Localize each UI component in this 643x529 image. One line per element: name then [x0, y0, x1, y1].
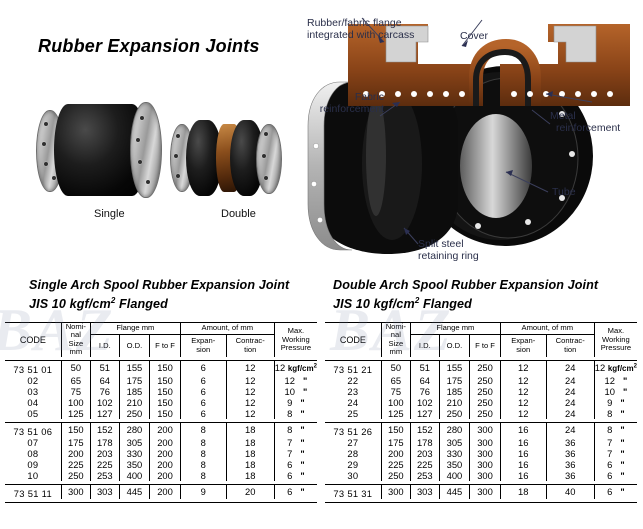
cell-contraction: 36: [546, 470, 594, 481]
cell-outer-diameter: 350: [439, 459, 470, 470]
cell-face-to-face: 300: [470, 470, 501, 481]
cell-max-working-pressure: 8": [594, 408, 637, 419]
cell-face-to-face: 300: [470, 459, 501, 470]
cell-code: 73 51 11: [5, 484, 61, 499]
cell-contraction: 40: [546, 484, 594, 499]
cell-expansion: 12: [500, 386, 546, 397]
cell-outer-diameter: 185: [439, 386, 470, 397]
cell-inner-diameter: 303: [90, 484, 119, 499]
callout-line-1: Split steel: [418, 238, 464, 250]
cell-nominal-size: 225: [61, 459, 90, 470]
table-row[interactable]: 2717517830530016367": [325, 437, 637, 448]
cell-inner-diameter: 225: [90, 459, 119, 470]
cell-max-working-pressure: 10": [274, 386, 317, 397]
cell-code: 03: [5, 386, 61, 397]
header-flange-2: F to F: [150, 335, 181, 357]
cell-max-working-pressure: 8": [274, 422, 317, 437]
cell-code: 73 51 01: [5, 360, 61, 375]
bolt-hole-icon: [140, 116, 144, 120]
cell-face-to-face: 200: [150, 470, 181, 481]
cell-inner-diameter: 203: [90, 448, 119, 459]
cell-face-to-face: 200: [150, 484, 181, 499]
cell-contraction: 36: [546, 437, 594, 448]
cell-face-to-face: 250: [470, 408, 501, 419]
table-row[interactable]: 02656417515061212": [5, 375, 317, 386]
table-bottom-rule: [325, 499, 637, 503]
cell-outer-diameter: 350: [119, 459, 150, 470]
cell-code: 30: [325, 470, 381, 481]
cell-face-to-face: 300: [470, 448, 501, 459]
cell-nominal-size: 50: [381, 360, 410, 375]
callout-line-2: retaining ring: [418, 250, 479, 262]
cell-code: 23: [325, 386, 381, 397]
cell-outer-diameter: 175: [119, 375, 150, 386]
callout-line-1: Metal: [550, 110, 576, 122]
cell-expansion: 16: [500, 437, 546, 448]
cell-code: 27: [325, 437, 381, 448]
cell-expansion: 6: [180, 386, 226, 397]
header-max-working-pressure: Max.WorkingPressure: [274, 323, 317, 357]
cell-expansion: 12: [500, 375, 546, 386]
cell-code: 28: [325, 448, 381, 459]
cell-max-working-pressure: 8": [274, 408, 317, 419]
cell-contraction: 36: [546, 459, 594, 470]
double-arch-table: CODENomi-nalSizemmFlange mmAmount, of mm…: [325, 322, 637, 503]
cell-nominal-size: 125: [381, 408, 410, 419]
cell-nominal-size: 200: [381, 448, 410, 459]
cell-code: 22: [325, 375, 381, 386]
cell-face-to-face: 150: [150, 386, 181, 397]
table-row[interactable]: 73 51 3130030344530018406": [325, 484, 637, 499]
double-title-line2-post: Flanged: [419, 297, 472, 311]
cell-max-working-pressure: 6": [594, 459, 637, 470]
cell-expansion: 8: [180, 422, 226, 437]
cell-face-to-face: 200: [150, 448, 181, 459]
callout-line-1: Cover: [460, 30, 488, 42]
cell-nominal-size: 65: [381, 375, 410, 386]
cell-expansion: 18: [500, 484, 546, 499]
bolt-hole-icon: [44, 162, 48, 166]
cell-max-working-pressure: 7": [274, 437, 317, 448]
cell-outer-diameter: 400: [439, 470, 470, 481]
cell-contraction: 20: [226, 484, 274, 499]
cell-outer-diameter: 210: [439, 397, 470, 408]
table-row[interactable]: 73 51 215051155250122412 kgf/cm2: [325, 360, 637, 375]
cell-outer-diameter: 210: [119, 397, 150, 408]
double-arch-photo: [170, 116, 282, 200]
cell-nominal-size: 300: [381, 484, 410, 499]
single-photo-caption: Single: [94, 208, 125, 220]
header-amount-1: Contrac-tion: [226, 335, 274, 357]
cell-expansion: 8: [180, 459, 226, 470]
table-bottom-rule: [5, 499, 317, 503]
header-amount-group: Amount, of mm: [500, 323, 594, 335]
cell-max-working-pressure: 12 kgf/cm2: [274, 360, 317, 375]
cell-outer-diameter: 280: [119, 422, 150, 437]
callout-line-1: Tube: [552, 186, 576, 198]
cell-face-to-face: 200: [150, 459, 181, 470]
cell-inner-diameter: 203: [410, 448, 439, 459]
cell-max-working-pressure: 6": [274, 470, 317, 481]
table-row[interactable]: 73 51 2615015228030016248": [325, 422, 637, 437]
cell-nominal-size: 125: [61, 408, 90, 419]
single-title-line2-pre: JIS 10 kgf/cm: [29, 297, 111, 311]
cell-max-working-pressure: 12": [594, 375, 637, 386]
cell-face-to-face: 250: [470, 360, 501, 375]
double-photo-caption: Double: [221, 208, 256, 220]
cell-code: 24: [325, 397, 381, 408]
table-row[interactable]: 3025025340030016366": [325, 470, 637, 481]
cell-inner-diameter: 152: [90, 422, 119, 437]
cell-inner-diameter: 127: [90, 408, 119, 419]
bolt-hole-icon: [264, 176, 268, 180]
cell-nominal-size: 100: [61, 397, 90, 408]
double-title-line1: Double Arch Spool Rubber Expansion Joint: [333, 278, 598, 292]
header-flange-0: I.D.: [410, 335, 439, 357]
header-flange-group: Flange mm: [410, 323, 500, 335]
header-flange-1: O.D.: [439, 335, 470, 357]
callout-line-1: Rubber/fabric flange: [307, 17, 402, 29]
page-title: Rubber Expansion Joints: [38, 36, 260, 57]
cell-expansion: 8: [180, 437, 226, 448]
cell-nominal-size: 100: [381, 397, 410, 408]
table-row[interactable]: 226564175250122412": [325, 375, 637, 386]
header-code: CODE: [5, 323, 61, 357]
cell-outer-diameter: 175: [439, 375, 470, 386]
cell-inner-diameter: 127: [410, 408, 439, 419]
cell-expansion: 12: [500, 397, 546, 408]
callout-line-2: reinforcement: [320, 103, 384, 115]
cell-max-working-pressure: 10": [594, 386, 637, 397]
cell-code: 29: [325, 459, 381, 470]
cell-outer-diameter: 330: [119, 448, 150, 459]
table-row[interactable]: 071751783052008187": [5, 437, 317, 448]
cell-contraction: 24: [546, 422, 594, 437]
cell-inner-diameter: 178: [90, 437, 119, 448]
cell-max-working-pressure: 9": [274, 397, 317, 408]
single-arch-photo: [34, 98, 162, 198]
cell-max-working-pressure: 6": [274, 459, 317, 470]
table-row[interactable]: 2512512725025012248": [325, 408, 637, 419]
callout-line-1: Fabric: [355, 91, 384, 103]
cell-inner-diameter: 102: [90, 397, 119, 408]
cell-nominal-size: 150: [381, 422, 410, 437]
cell-nominal-size: 175: [381, 437, 410, 448]
header-amount-0: Expan-sion: [500, 335, 546, 357]
header-code: CODE: [325, 323, 381, 357]
cell-max-working-pressure: 7": [274, 448, 317, 459]
cell-contraction: 24: [546, 386, 594, 397]
cell-code: 02: [5, 375, 61, 386]
header-flange-2: F to F: [470, 335, 501, 357]
cell-code: 73 51 26: [325, 422, 381, 437]
cell-expansion: 6: [180, 360, 226, 375]
table-row[interactable]: 051251272501506128": [5, 408, 317, 419]
callout-line-2: reinforcement: [550, 122, 620, 134]
header-flange-group: Flange mm: [90, 323, 180, 335]
single-title-line1: Single Arch Spool Rubber Expansion Joint: [29, 278, 289, 292]
cell-face-to-face: 250: [470, 375, 501, 386]
cell-max-working-pressure: 6": [594, 470, 637, 481]
table-row[interactable]: 237576185250122410": [325, 386, 637, 397]
cell-face-to-face: 250: [470, 397, 501, 408]
cell-contraction: 18: [226, 448, 274, 459]
cell-nominal-size: 250: [381, 470, 410, 481]
cell-code: 04: [5, 397, 61, 408]
cell-expansion: 16: [500, 448, 546, 459]
cell-expansion: 6: [180, 408, 226, 419]
single-arch-table: CODENomi-nalSizemmFlange mmAmount, of mm…: [5, 322, 317, 503]
cutaway-illustration: [300, 6, 643, 268]
double-title-line2-pre: JIS 10 kgf/cm: [333, 297, 415, 311]
cell-nominal-size: 150: [61, 422, 90, 437]
cell-nominal-size: 300: [61, 484, 90, 499]
cell-code: 08: [5, 448, 61, 459]
cell-code: 05: [5, 408, 61, 419]
bolt-hole-icon: [42, 142, 46, 146]
cell-outer-diameter: 155: [119, 360, 150, 375]
cell-inner-diameter: 51: [410, 360, 439, 375]
catalog-page: BAZ BAZ Rubber Expansion Joints Single D…: [0, 0, 643, 529]
cell-max-working-pressure: 7": [594, 448, 637, 459]
table-row[interactable]: 73 51 061501522802008188": [5, 422, 317, 437]
cell-inner-diameter: 64: [410, 375, 439, 386]
cell-outer-diameter: 185: [119, 386, 150, 397]
cell-code: 10: [5, 470, 61, 481]
table-row[interactable]: 102502534002008186": [5, 470, 317, 481]
cell-face-to-face: 250: [470, 386, 501, 397]
single-table-title: Single Arch Spool Rubber Expansion Joint…: [29, 277, 289, 312]
bolt-hole-icon: [264, 132, 268, 136]
cell-nominal-size: 250: [61, 470, 90, 481]
cell-face-to-face: 150: [150, 375, 181, 386]
cell-face-to-face: 200: [150, 437, 181, 448]
cell-code: 73 51 31: [325, 484, 381, 499]
cell-expansion: 16: [500, 459, 546, 470]
cell-nominal-size: 75: [381, 386, 410, 397]
cell-nominal-size: 175: [61, 437, 90, 448]
cell-face-to-face: 150: [150, 360, 181, 375]
cutaway-diagram: Rubber/fabric flange integrated with car…: [300, 6, 643, 268]
cell-contraction: 24: [546, 397, 594, 408]
cell-nominal-size: 225: [381, 459, 410, 470]
table-row[interactable]: 03757618515061210": [5, 386, 317, 397]
bolt-hole-icon: [176, 134, 180, 138]
cell-contraction: 12: [226, 408, 274, 419]
cell-nominal-size: 75: [61, 386, 90, 397]
cell-contraction: 24: [546, 408, 594, 419]
table-row[interactable]: 2922522535030016366": [325, 459, 637, 470]
table-row[interactable]: 2410010221025012249": [325, 397, 637, 408]
bolt-hole-icon: [176, 174, 180, 178]
cell-face-to-face: 200: [150, 422, 181, 437]
header-amount-0: Expan-sion: [180, 335, 226, 357]
table-row[interactable]: 092252253502008186": [5, 459, 317, 470]
double-table-title: Double Arch Spool Rubber Expansion Joint…: [333, 277, 598, 312]
cell-expansion: 6: [180, 375, 226, 386]
cell-code: 07: [5, 437, 61, 448]
cell-contraction: 18: [226, 437, 274, 448]
cell-expansion: 16: [500, 470, 546, 481]
cell-outer-diameter: 305: [119, 437, 150, 448]
bolt-hole-icon: [44, 122, 48, 126]
cell-max-working-pressure: 12": [274, 375, 317, 386]
cell-code: 09: [5, 459, 61, 470]
cell-outer-diameter: 250: [119, 408, 150, 419]
cell-expansion: 8: [180, 470, 226, 481]
cell-nominal-size: 50: [61, 360, 90, 375]
header-nominal-size: Nomi-nalSizemm: [381, 323, 410, 357]
cell-face-to-face: 300: [470, 437, 501, 448]
cell-expansion: 12: [500, 360, 546, 375]
cell-inner-diameter: 152: [410, 422, 439, 437]
cell-outer-diameter: 280: [439, 422, 470, 437]
bolt-hole-icon: [52, 176, 56, 180]
table-row[interactable]: 082002033302008187": [5, 448, 317, 459]
cell-inner-diameter: 253: [410, 470, 439, 481]
cell-outer-diameter: 445: [439, 484, 470, 499]
cell-contraction: 18: [226, 459, 274, 470]
table-row[interactable]: 73 51 01505115515061212 kgf/cm2: [5, 360, 317, 375]
cell-nominal-size: 65: [61, 375, 90, 386]
cell-code: 73 51 06: [5, 422, 61, 437]
bolt-hole-icon: [136, 138, 140, 142]
cell-contraction: 12: [226, 397, 274, 408]
cell-outer-diameter: 330: [439, 448, 470, 459]
bolt-hole-icon: [174, 154, 178, 158]
cell-contraction: 18: [226, 470, 274, 481]
cell-face-to-face: 300: [470, 422, 501, 437]
cell-inner-diameter: 76: [90, 386, 119, 397]
callout-fabric-reinforcement: Fabric reinforcement: [318, 91, 384, 115]
bolt-hole-icon: [262, 154, 266, 158]
cell-face-to-face: 300: [470, 484, 501, 499]
cell-contraction: 12: [226, 386, 274, 397]
cell-outer-diameter: 305: [439, 437, 470, 448]
cell-max-working-pressure: 12 kgf/cm2: [594, 360, 637, 375]
cell-face-to-face: 150: [150, 397, 181, 408]
cell-inner-diameter: 102: [410, 397, 439, 408]
table-row[interactable]: 2820020333030016367": [325, 448, 637, 459]
callout-tube: Tube: [552, 186, 576, 198]
table-row[interactable]: 041001022101506129": [5, 397, 317, 408]
cell-max-working-pressure: 9": [594, 397, 637, 408]
header-amount-group: Amount, of mm: [180, 323, 274, 335]
cell-expansion: 12: [500, 408, 546, 419]
cell-contraction: 36: [546, 448, 594, 459]
cell-inner-diameter: 64: [90, 375, 119, 386]
cell-inner-diameter: 76: [410, 386, 439, 397]
cell-face-to-face: 150: [150, 408, 181, 419]
cell-expansion: 9: [180, 484, 226, 499]
cell-max-working-pressure: 6": [274, 484, 317, 499]
cell-contraction: 24: [546, 360, 594, 375]
header-nominal-size: Nomi-nalSizemm: [61, 323, 90, 357]
cell-inner-diameter: 51: [90, 360, 119, 375]
cell-outer-diameter: 445: [119, 484, 150, 499]
cell-outer-diameter: 400: [119, 470, 150, 481]
cell-inner-diameter: 178: [410, 437, 439, 448]
cell-code: 25: [325, 408, 381, 419]
header-max-working-pressure: Max.WorkingPressure: [594, 323, 637, 357]
cell-code: 73 51 21: [325, 360, 381, 375]
bolt-hole-icon: [138, 160, 142, 164]
cell-outer-diameter: 250: [439, 408, 470, 419]
cell-inner-diameter: 303: [410, 484, 439, 499]
cell-expansion: 16: [500, 422, 546, 437]
callout-rubber-fabric-flange: Rubber/fabric flange integrated with car…: [307, 17, 414, 41]
header-flange-0: I.D.: [90, 335, 119, 357]
cell-inner-diameter: 253: [90, 470, 119, 481]
callout-metal-reinforcement: Metal reinforcement: [550, 110, 620, 134]
callout-cover: Cover: [460, 30, 488, 42]
callout-line-2: integrated with carcass: [307, 29, 414, 41]
cell-contraction: 18: [226, 422, 274, 437]
cell-contraction: 12: [226, 375, 274, 386]
cell-contraction: 12: [226, 360, 274, 375]
bolt-hole-icon: [146, 180, 150, 184]
flange-right: [256, 124, 282, 194]
cell-max-working-pressure: 6": [594, 484, 637, 499]
table-row[interactable]: 73 51 113003034452009206": [5, 484, 317, 499]
callout-split-steel-retaining-ring: Split steel retaining ring: [418, 238, 479, 262]
cell-inner-diameter: 225: [410, 459, 439, 470]
table-header-row-1: CODENomi-nalSizemmFlange mmAmount, of mm…: [5, 323, 317, 335]
cell-max-working-pressure: 7": [594, 437, 637, 448]
cell-contraction: 24: [546, 375, 594, 386]
cell-expansion: 6: [180, 397, 226, 408]
cell-nominal-size: 200: [61, 448, 90, 459]
cell-outer-diameter: 155: [439, 360, 470, 375]
cell-expansion: 8: [180, 448, 226, 459]
header-flange-1: O.D.: [119, 335, 150, 357]
cell-max-working-pressure: 8": [594, 422, 637, 437]
header-amount-1: Contrac-tion: [546, 335, 594, 357]
table-header-row-1: CODENomi-nalSizemmFlange mmAmount, of mm…: [325, 323, 637, 335]
single-title-line2-post: Flanged: [115, 297, 168, 311]
